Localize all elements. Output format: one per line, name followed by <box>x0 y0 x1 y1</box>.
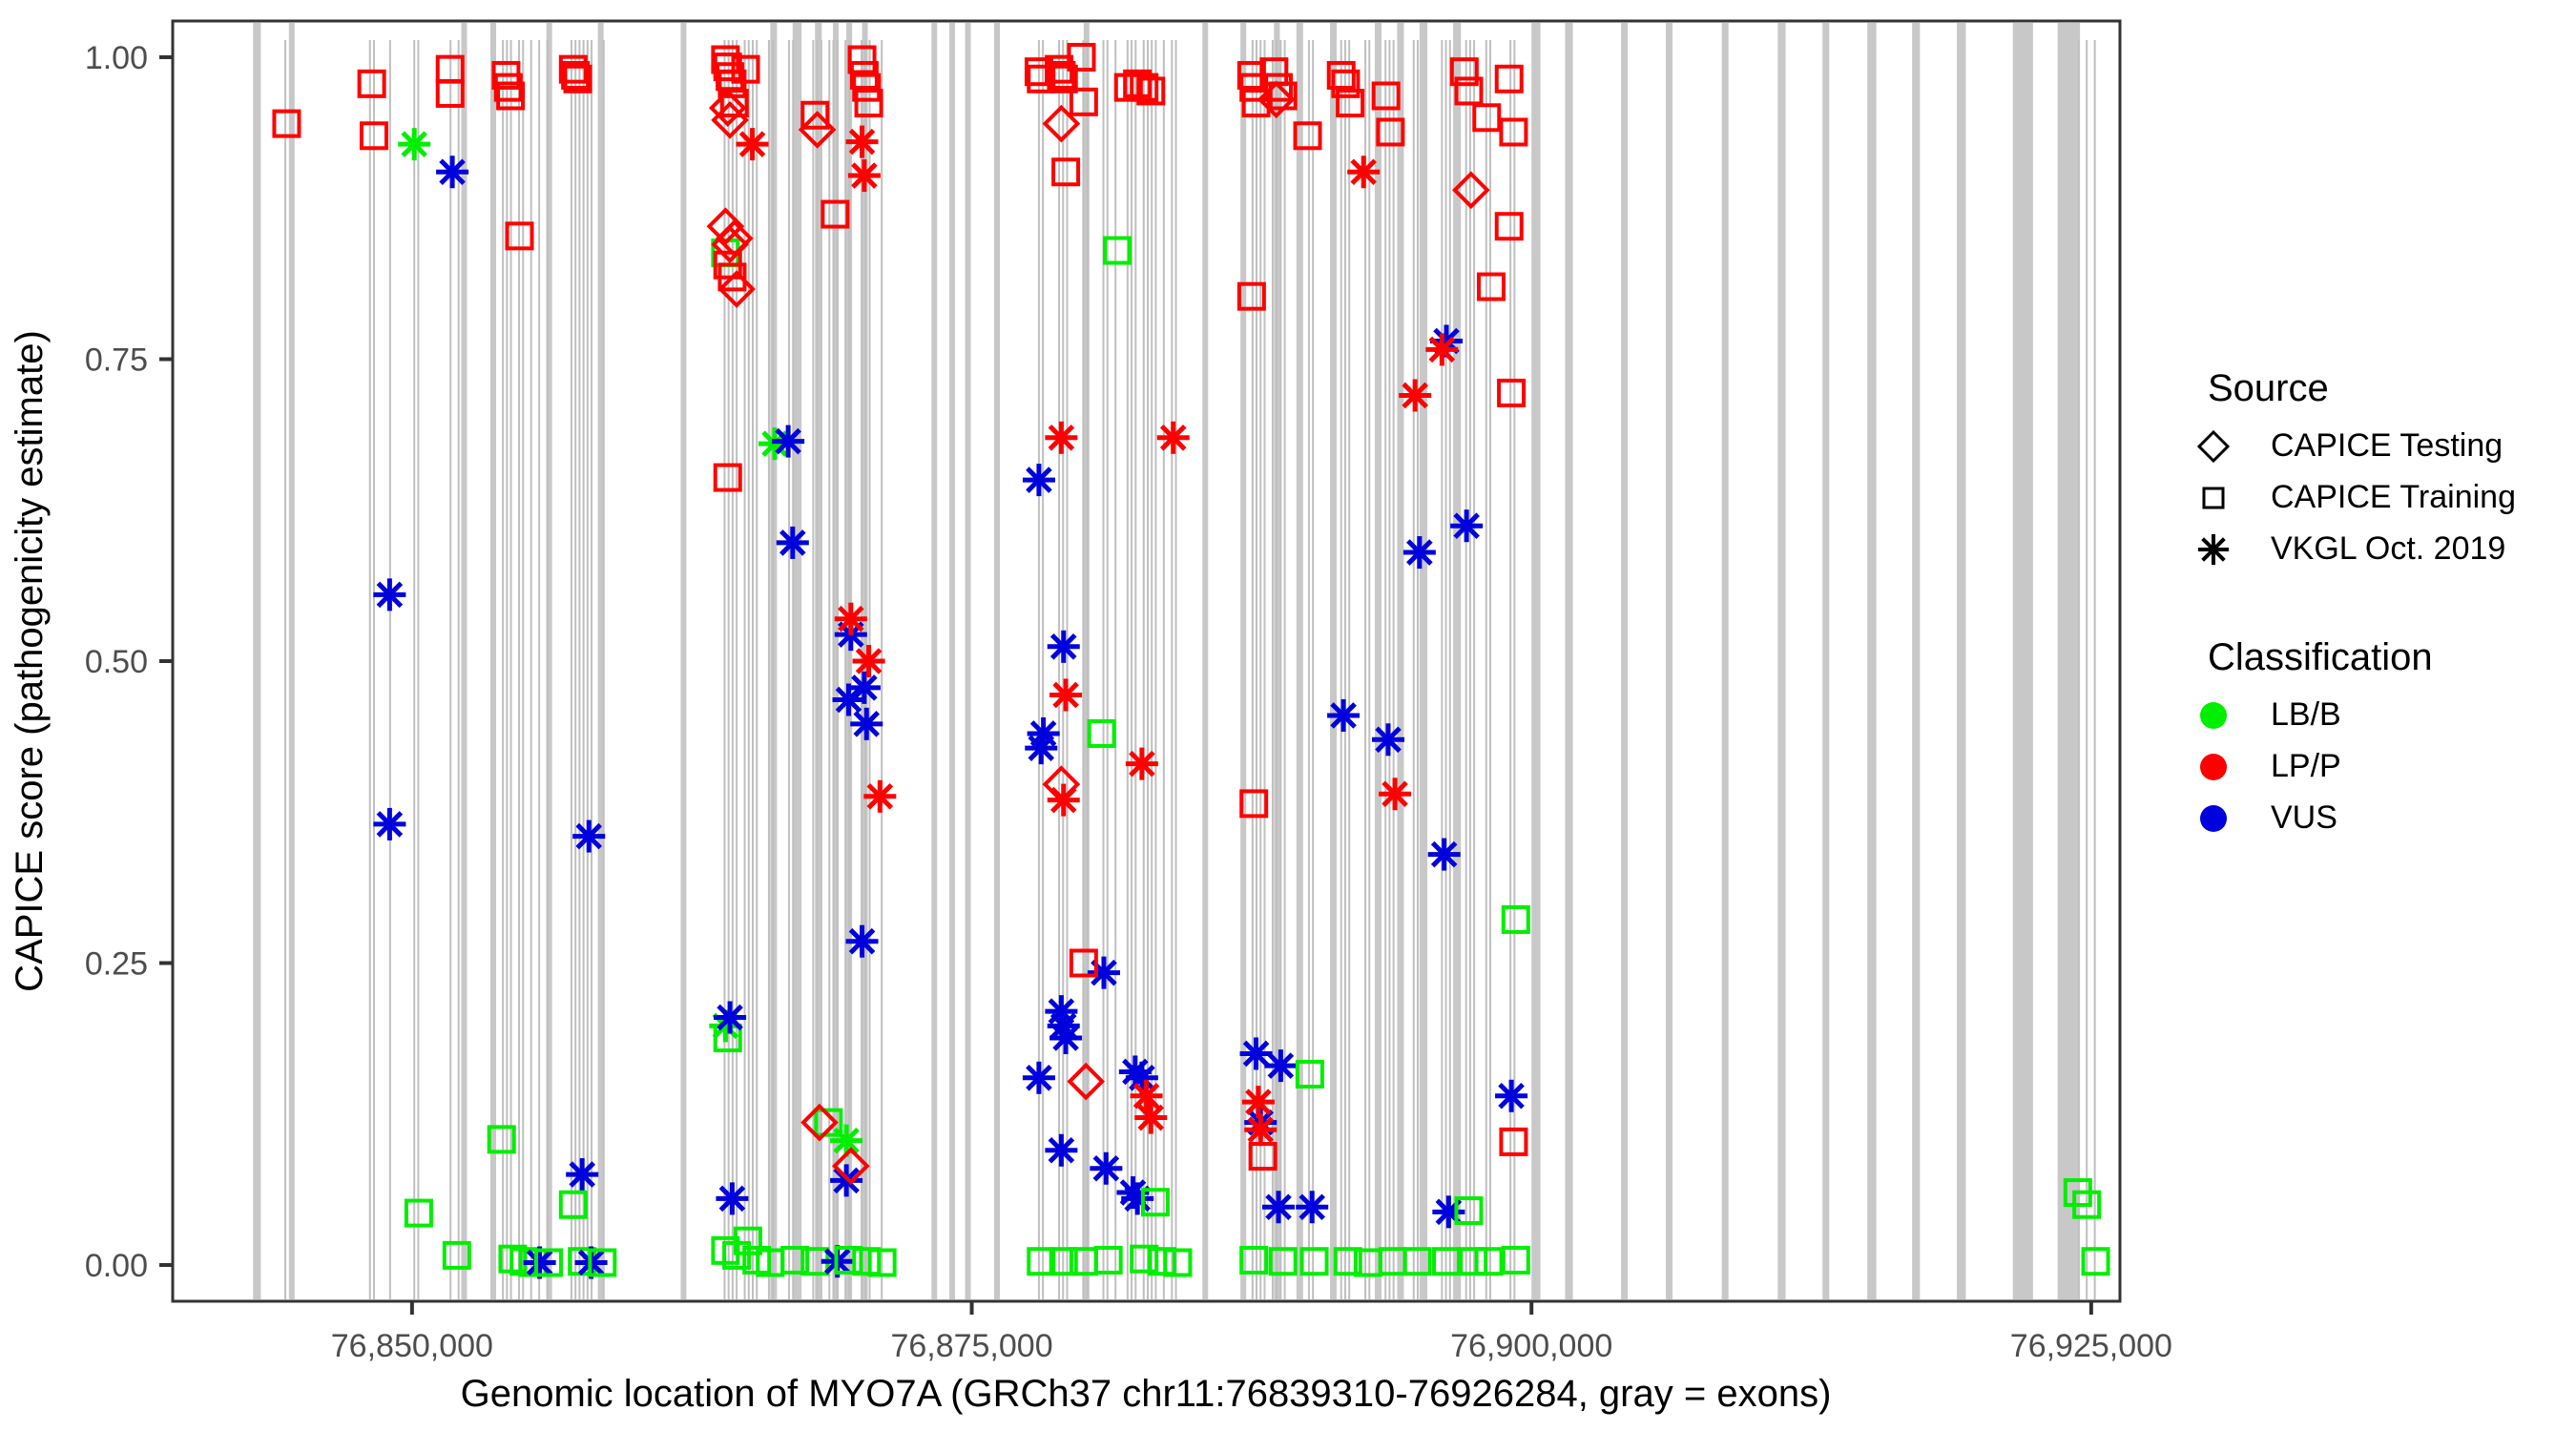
data-point <box>1296 1191 1328 1223</box>
data-point <box>1048 784 1080 817</box>
legend-item-label[interactable]: LB/B <box>2271 696 2341 733</box>
data-point <box>835 603 867 635</box>
exon-band <box>289 23 295 1299</box>
exon-band <box>965 23 970 1299</box>
data-point <box>572 820 605 853</box>
legend-title-classification: Classification <box>2208 636 2433 678</box>
y-axis: 0.000.250.500.751.00 <box>85 40 173 1284</box>
exon-band <box>2058 23 2080 1299</box>
exon-band <box>1957 23 1965 1299</box>
x-axis: 76,850,00076,875,00076,900,00076,925,000 <box>331 1301 2172 1364</box>
square-marker <box>1504 1248 1528 1273</box>
square-marker <box>1090 721 1114 746</box>
exon-band <box>680 23 686 1299</box>
dot-icon <box>2200 754 2227 780</box>
data-point <box>1477 1249 1502 1274</box>
data-point <box>1165 1250 1190 1275</box>
data-point <box>1134 1102 1167 1134</box>
exon-band <box>1297 23 1303 1299</box>
data-point <box>1045 1134 1077 1167</box>
exon-band <box>949 23 955 1299</box>
exon-band <box>253 23 260 1299</box>
legend-item-label[interactable]: CAPICE Training <box>2271 479 2516 515</box>
data-point <box>274 112 299 136</box>
legend-item-label[interactable]: CAPICE Testing <box>2271 427 2503 464</box>
data-point <box>1244 1113 1277 1146</box>
dot-icon <box>2200 702 2227 729</box>
data-point <box>1497 67 1522 92</box>
data-point <box>1048 631 1080 663</box>
x-tick-label: 76,900,000 <box>1450 1328 1612 1364</box>
exon-band <box>994 23 1000 1299</box>
square-marker <box>274 112 299 136</box>
data-point <box>561 1192 586 1217</box>
legend-item-label[interactable]: VUS <box>2271 799 2337 836</box>
exon-band <box>1375 23 1381 1299</box>
data-point <box>863 780 896 813</box>
data-point <box>846 126 879 158</box>
capice-scatter-plot: 0.000.250.500.751.00 76,850,00076,875,00… <box>0 0 2576 1431</box>
data-point <box>1251 1144 1276 1169</box>
y-tick-label: 0.00 <box>85 1248 148 1284</box>
data-point <box>1049 678 1082 711</box>
exon-band <box>931 23 937 1299</box>
data-point <box>1450 509 1483 542</box>
square-marker <box>1504 907 1528 932</box>
data-point <box>777 527 809 559</box>
exon-band <box>1867 23 1876 1299</box>
data-point <box>1264 1049 1297 1082</box>
square-marker <box>360 72 384 96</box>
x-tick-label: 76,850,000 <box>331 1328 493 1364</box>
data-point <box>1495 1080 1527 1112</box>
x-tick-label: 76,875,000 <box>890 1328 1052 1364</box>
data-point <box>1262 1191 1295 1223</box>
y-tick-label: 0.25 <box>85 946 148 983</box>
data-point <box>1347 156 1380 188</box>
square-marker <box>1251 1144 1276 1169</box>
exon-band <box>1565 23 1572 1299</box>
data-point <box>848 672 881 704</box>
data-point <box>830 1164 862 1196</box>
exon-band <box>490 23 496 1299</box>
data-point <box>1428 839 1461 871</box>
exon-bands-layer <box>253 23 2080 1299</box>
data-point <box>1504 1248 1528 1273</box>
data-point <box>1425 333 1458 365</box>
exon-band <box>2013 23 2033 1299</box>
data-point <box>1302 1249 1327 1274</box>
chart-page: 0.000.250.500.751.00 76,850,00076,875,00… <box>0 0 2576 1431</box>
legend-item-label[interactable]: LP/P <box>2271 748 2341 784</box>
data-point <box>1105 238 1130 263</box>
exon-band <box>1777 23 1785 1299</box>
data-point <box>716 1182 748 1214</box>
data-point <box>1028 717 1060 750</box>
diamond-icon <box>2199 432 2228 461</box>
exon-band <box>1531 23 1540 1299</box>
exon-band <box>1420 23 1427 1299</box>
data-point <box>1023 1062 1055 1094</box>
data-point <box>436 156 468 188</box>
y-axis-title: CAPICE score (pathogenicity estimate) <box>9 330 51 992</box>
exon-band <box>1453 23 1461 1299</box>
square-icon <box>2204 488 2223 508</box>
data-point <box>772 425 804 458</box>
data-point <box>846 925 879 958</box>
data-point <box>1327 699 1360 732</box>
square-marker <box>1497 214 1522 238</box>
y-tick-label: 0.50 <box>85 644 148 680</box>
exon-band <box>461 23 467 1299</box>
legend-title-source: Source <box>2208 367 2329 409</box>
data-point <box>1121 1182 1153 1214</box>
y-tick-label: 0.75 <box>85 342 148 378</box>
data-point <box>1403 536 1436 569</box>
x-axis-title: Genomic location of MYO7A (GRCh37 chr11:… <box>461 1373 1832 1415</box>
data-point <box>566 1158 598 1191</box>
data-point <box>373 578 405 611</box>
data-point <box>1053 159 1078 184</box>
exon-band <box>598 23 604 1299</box>
exon-band <box>1666 23 1672 1299</box>
x-tick-label: 76,925,000 <box>2010 1328 2172 1364</box>
data-point <box>1023 464 1055 496</box>
data-point <box>737 128 769 160</box>
exon-band <box>1912 23 1920 1299</box>
exon-band <box>1202 23 1208 1299</box>
data-point <box>1504 907 1528 932</box>
exon-band <box>1397 23 1403 1299</box>
data-point <box>1131 1080 1163 1112</box>
data-point <box>1088 957 1120 989</box>
exon-band <box>1822 23 1829 1299</box>
data-point <box>1090 721 1114 746</box>
data-point <box>1126 748 1158 780</box>
data-point <box>1379 778 1411 810</box>
data-point <box>1242 1086 1275 1118</box>
square-marker <box>1497 67 1522 92</box>
square-marker <box>1105 238 1130 263</box>
exon-band <box>1621 23 1628 1299</box>
square-marker <box>561 1192 586 1217</box>
square-marker <box>1165 1250 1190 1275</box>
dot-icon <box>2200 805 2227 832</box>
data-point <box>1399 379 1431 411</box>
data-point <box>1090 1152 1122 1185</box>
data-point <box>714 1001 746 1033</box>
data-point <box>1045 422 1077 454</box>
legend-item-label[interactable]: VKGL Oct. 2019 <box>2271 530 2505 567</box>
data-point <box>853 645 885 677</box>
data-point <box>1372 723 1404 756</box>
exon-band <box>1722 23 1729 1299</box>
data-point <box>848 159 881 192</box>
y-tick-label: 1.00 <box>85 40 148 76</box>
square-marker <box>1477 1249 1502 1274</box>
exon-band <box>1330 23 1337 1299</box>
data-point <box>373 808 405 840</box>
data-point <box>1157 422 1190 454</box>
data-point <box>360 72 384 96</box>
exon-band <box>1240 23 1246 1299</box>
data-point <box>850 708 883 740</box>
data-point <box>1497 214 1522 238</box>
square-marker <box>1302 1249 1327 1274</box>
data-point <box>398 128 430 160</box>
square-marker <box>1053 159 1078 184</box>
legend: SourceCAPICE TestingCAPICE TrainingVKGL … <box>2198 367 2516 836</box>
data-point <box>1049 1022 1082 1054</box>
